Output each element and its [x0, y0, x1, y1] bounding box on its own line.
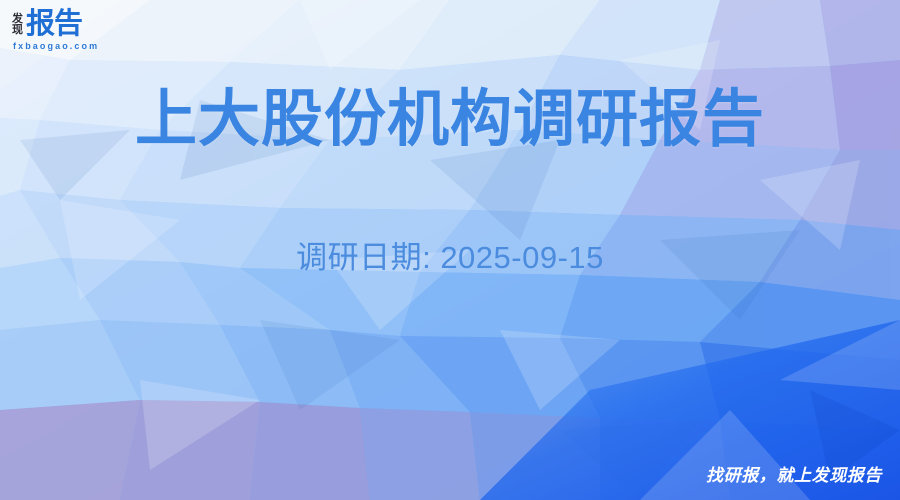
logo-wordmark: 报告: [26, 10, 82, 39]
logo-domain-text: fxbaogao.com: [13, 41, 99, 51]
logo-mark-characters: 发 现: [12, 14, 23, 39]
logo-mark-bottom: 现: [12, 25, 23, 36]
survey-date-subtitle: 调研日期: 2025-09-15: [0, 232, 900, 277]
site-logo[interactable]: 发 现 报告 fxbaogao.com: [12, 10, 99, 51]
page-title: 上大股份机构调研报告: [0, 84, 900, 155]
logo-row: 发 现 报告: [12, 10, 82, 39]
report-cover-slide: 发 现 报告 fxbaogao.com 上大股份机构调研报告 调研日期: 202…: [0, 0, 900, 500]
watermark-slogan: 找研报，就上发现报告: [706, 461, 882, 486]
